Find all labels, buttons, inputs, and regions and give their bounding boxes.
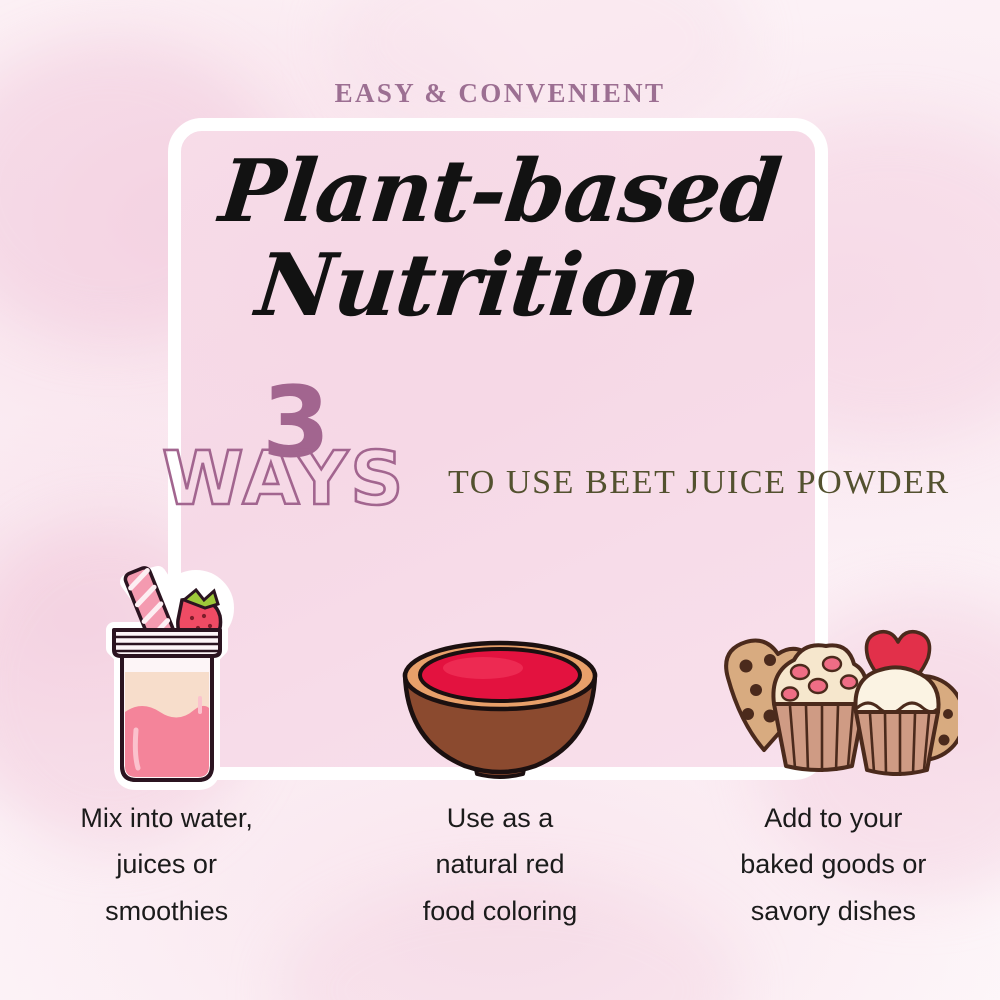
caption-line: natural red — [361, 841, 638, 887]
subheading-text: TO USE BEET JUICE POWDER — [448, 464, 950, 502]
icon-cell-baked-goods — [667, 560, 1000, 790]
icon-cell-smoothie — [0, 560, 333, 790]
caption-line: Use as a — [361, 795, 638, 841]
bowl-of-red-liquid-icon — [395, 630, 605, 790]
caption-line: juices or — [28, 841, 305, 887]
caption-line: baked goods or — [695, 841, 972, 887]
caption-baked-goods: Add to your baked goods or savory dishes — [667, 795, 1000, 934]
poster-canvas: EASY & CONVENIENT Plant-based Nutrition … — [0, 0, 1000, 1000]
ways-heading-block: 3 WAYS TO USE BEET JUICE POWDER — [160, 380, 960, 520]
caption-line: smoothies — [28, 888, 305, 934]
captions-row: Mix into water, juices or smoothies Use … — [0, 795, 1000, 934]
icons-row — [0, 560, 1000, 790]
smoothie-jar-icon — [72, 560, 262, 790]
eyebrow-text: EASY & CONVENIENT — [0, 78, 1000, 109]
title-line-1: Plant-based — [0, 148, 1000, 236]
count-word: WAYS — [162, 442, 405, 516]
caption-bowl: Use as a natural red food coloring — [333, 795, 666, 934]
caption-smoothie: Mix into water, juices or smoothies — [0, 795, 333, 934]
caption-line: Mix into water, — [28, 795, 305, 841]
page-title: Plant-based Nutrition — [0, 148, 1000, 329]
icon-cell-bowl — [333, 560, 666, 790]
caption-line: food coloring — [361, 888, 638, 934]
title-line-2: Nutrition — [0, 242, 983, 330]
caption-line: savory dishes — [695, 888, 972, 934]
caption-line: Add to your — [695, 795, 972, 841]
cupcakes-and-cookies-icon — [708, 620, 958, 790]
